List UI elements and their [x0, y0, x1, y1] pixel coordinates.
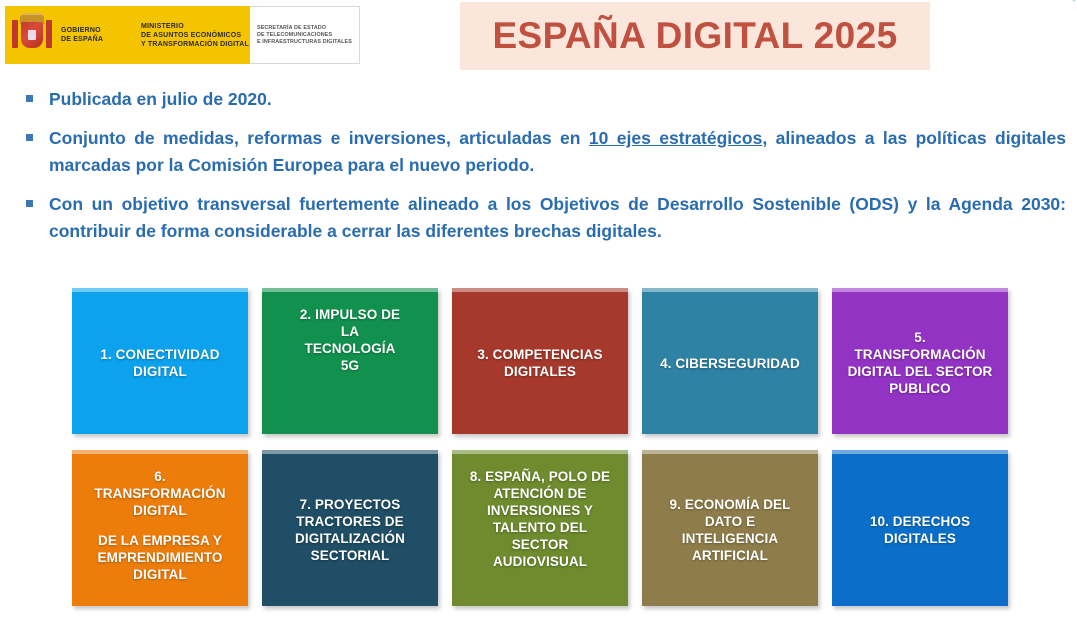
axis-box-2[interactable]: 2. IMPULSO DELATECNOLOGÍA5G	[262, 288, 438, 434]
bullet-square-icon	[26, 95, 33, 102]
logo-gobierno-line2: DE ESPAÑA	[61, 35, 131, 44]
axis-box-1[interactable]: 1. CONECTIVIDADDIGITAL	[72, 288, 248, 434]
axis-box-line: DE LA EMPRESA Y	[77, 532, 243, 549]
axis-box-6[interactable]: 6.TRANSFORMACIÓNDIGITALDE LA EMPRESA YEM…	[72, 450, 248, 606]
axis-box-line: 6.	[77, 468, 243, 485]
bullet-text-part: Con un objetivo transversal fuertemente …	[49, 194, 1066, 241]
axis-box-line: ARTIFICIAL	[647, 547, 813, 564]
axis-box-4[interactable]: 4. CIBERSEGURIDAD	[642, 288, 818, 434]
axis-box-paragraph: 4. CIBERSEGURIDAD	[647, 355, 813, 372]
bullet-text: Publicada en julio de 2020.	[49, 86, 1066, 113]
axis-box-10[interactable]: 10. DERECHOSDIGITALES	[832, 450, 1008, 606]
axis-box-paragraph: 2. IMPULSO DELATECNOLOGÍA5G	[267, 306, 433, 374]
bullet-square-icon	[26, 200, 33, 207]
axis-box-paragraph: 10. DERECHOSDIGITALES	[837, 513, 1003, 547]
government-logo: GOBIERNO DE ESPAÑA MINISTERIO DE ASUNTOS…	[5, 6, 360, 64]
axis-box-line: PUBLICO	[837, 380, 1003, 397]
axis-box-line: ATENCIÓN DE	[457, 485, 623, 502]
axis-box-content: 5.TRANSFORMACIÓNDIGITAL DEL SECTORPUBLIC…	[837, 329, 1003, 397]
title-plate: ESPAÑA DIGITAL 2025	[460, 2, 930, 70]
axis-box-paragraph: 7. PROYECTOSTRACTORES DEDIGITALIZACIÓNSE…	[267, 496, 433, 564]
axis-box-5[interactable]: 5.TRANSFORMACIÓNDIGITAL DEL SECTORPUBLIC…	[832, 288, 1008, 434]
shield-icon	[21, 22, 43, 48]
axis-box-line: DIGITALES	[837, 530, 1003, 547]
axis-box-line: LA	[267, 323, 433, 340]
logo-gobierno-line1: GOBIERNO	[61, 26, 131, 35]
axis-box-content: 4. CIBERSEGURIDAD	[647, 355, 813, 372]
axis-box-line: EMPRENDIMIENTO	[77, 549, 243, 566]
axis-box-3[interactable]: 3. COMPETENCIASDIGITALES	[452, 288, 628, 434]
spain-coat-of-arms-icon	[11, 11, 53, 59]
axis-box-line: 5.	[837, 329, 1003, 346]
axis-box-line: DIGITAL	[77, 566, 243, 583]
axis-box-paragraph: 5.TRANSFORMACIÓNDIGITAL DEL SECTORPUBLIC…	[837, 329, 1003, 397]
axis-box-paragraph: 8. ESPAÑA, POLO DEATENCIÓN DEINVERSIONES…	[457, 468, 623, 570]
axis-box-line: DATO E	[647, 513, 813, 530]
logo-yellow-band: GOBIERNO DE ESPAÑA MINISTERIO DE ASUNTOS…	[5, 6, 250, 64]
axis-box-line: 9. ECONOMÍA DEL	[647, 496, 813, 513]
pillar-left-icon	[12, 20, 18, 48]
axis-box-line: 8. ESPAÑA, POLO DE	[457, 468, 623, 485]
logo-ministerio-line2: DE ASUNTOS ECONÓMICOS	[141, 31, 249, 40]
axis-box-content: 6.TRANSFORMACIÓNDIGITALDE LA EMPRESA YEM…	[77, 468, 243, 583]
bullet-text-part: Publicada en julio de 2020.	[49, 89, 272, 109]
logo-secretaria-band: SECRETARÍA DE ESTADO DE TELECOMUNICACION…	[250, 6, 360, 64]
axis-box-line: 3. COMPETENCIAS	[457, 346, 623, 363]
axis-box-line: AUDIOVISUAL	[457, 553, 623, 570]
page-title: ESPAÑA DIGITAL 2025	[492, 15, 897, 57]
axis-box-line: TECNOLOGÍA	[267, 340, 433, 357]
axis-box-content: 1. CONECTIVIDADDIGITAL	[77, 346, 243, 380]
axis-box-paragraph: DE LA EMPRESA YEMPRENDIMIENTODIGITAL	[77, 532, 243, 583]
axis-box-line: DIGITAL	[77, 502, 243, 519]
axis-box-line: DIGITAL DEL SECTOR	[837, 363, 1003, 380]
logo-secretaria-line2: DE TELECOMUNICACIONES	[257, 32, 352, 39]
axis-box-7[interactable]: 7. PROYECTOSTRACTORES DEDIGITALIZACIÓNSE…	[262, 450, 438, 606]
axis-box-line: 2. IMPULSO DE	[267, 306, 433, 323]
axis-box-line: SECTOR	[457, 536, 623, 553]
axes-row-1: 1. CONECTIVIDADDIGITAL2. IMPULSO DELATEC…	[72, 288, 1008, 434]
axis-box-line: TRACTORES DE	[267, 513, 433, 530]
axis-box-line: 4. CIBERSEGURIDAD	[647, 355, 813, 372]
pillar-right-icon	[46, 20, 52, 48]
axis-box-content: 2. IMPULSO DELATECNOLOGÍA5G	[267, 306, 433, 374]
axis-box-content: 3. COMPETENCIASDIGITALES	[457, 346, 623, 380]
logo-secretaria-text: SECRETARÍA DE ESTADO DE TELECOMUNICACION…	[257, 25, 352, 46]
axis-box-line: INVERSIONES Y	[457, 502, 623, 519]
axis-box-content: 7. PROYECTOSTRACTORES DEDIGITALIZACIÓNSE…	[267, 496, 433, 564]
axis-box-line: TRANSFORMACIÓN	[837, 346, 1003, 363]
axis-box-line: TRANSFORMACIÓN	[77, 485, 243, 502]
axis-box-9[interactable]: 9. ECONOMÍA DELDATO EINTELIGENCIAARTIFIC…	[642, 450, 818, 606]
bullet-text-part: Conjunto de medidas, reformas e inversio…	[49, 128, 589, 148]
axis-box-line: 10. DERECHOS	[837, 513, 1003, 530]
axis-box-paragraph: 9. ECONOMÍA DELDATO EINTELIGENCIAARTIFIC…	[647, 496, 813, 564]
logo-secretaria-line3: E INFRAESTRUCTURAS DIGITALES	[257, 39, 352, 46]
axis-box-line: DIGITAL	[77, 363, 243, 380]
axes-row-2: 6.TRANSFORMACIÓNDIGITALDE LA EMPRESA YEM…	[72, 450, 1008, 606]
axis-box-line: SECTORIAL	[267, 547, 433, 564]
logo-gobierno-text: GOBIERNO DE ESPAÑA	[61, 26, 131, 44]
bullet-text: Con un objetivo transversal fuertemente …	[49, 191, 1066, 245]
axis-box-paragraph: 1. CONECTIVIDADDIGITAL	[77, 346, 243, 380]
axis-box-paragraph: 3. COMPETENCIASDIGITALES	[457, 346, 623, 380]
logo-secretaria-line1: SECRETARÍA DE ESTADO	[257, 25, 352, 32]
axis-box-line: TALENTO DEL	[457, 519, 623, 536]
bullet-item: Con un objetivo transversal fuertemente …	[26, 191, 1066, 245]
axis-box-line: 7. PROYECTOS	[267, 496, 433, 513]
bullet-item: Publicada en julio de 2020.	[26, 86, 1066, 113]
axis-box-line: DIGITALIZACIÓN	[267, 530, 433, 547]
corner-artifact	[1043, 0, 1077, 28]
axis-box-content: 8. ESPAÑA, POLO DEATENCIÓN DEINVERSIONES…	[457, 468, 623, 570]
axis-box-content: 9. ECONOMÍA DELDATO EINTELIGENCIAARTIFIC…	[647, 496, 813, 564]
axis-box-line: DIGITALES	[457, 363, 623, 380]
bullet-list: Publicada en julio de 2020.Conjunto de m…	[26, 86, 1066, 257]
logo-ministerio-line3: Y TRANSFORMACIÓN DIGITAL	[141, 40, 249, 49]
axis-box-8[interactable]: 8. ESPAÑA, POLO DEATENCIÓN DEINVERSIONES…	[452, 450, 628, 606]
logo-ministerio-text: MINISTERIO DE ASUNTOS ECONÓMICOS Y TRANS…	[141, 22, 249, 49]
axis-box-line: INTELIGENCIA	[647, 530, 813, 547]
axis-box-line: 1. CONECTIVIDAD	[77, 346, 243, 363]
strategic-axes-grid: 1. CONECTIVIDADDIGITAL2. IMPULSO DELATEC…	[72, 288, 1008, 622]
bullet-link-text[interactable]: 10 ejes estratégicos	[589, 128, 762, 148]
logo-ministerio-line1: MINISTERIO	[141, 22, 249, 31]
bullet-text: Conjunto de medidas, reformas e inversio…	[49, 125, 1066, 179]
bullet-square-icon	[26, 134, 33, 141]
axis-box-line: 5G	[267, 357, 433, 374]
axis-box-content: 10. DERECHOSDIGITALES	[837, 513, 1003, 547]
header-band: GOBIERNO DE ESPAÑA MINISTERIO DE ASUNTOS…	[0, 0, 1077, 78]
bullet-item: Conjunto de medidas, reformas e inversio…	[26, 125, 1066, 179]
axis-box-paragraph: 6.TRANSFORMACIÓNDIGITAL	[77, 468, 243, 519]
